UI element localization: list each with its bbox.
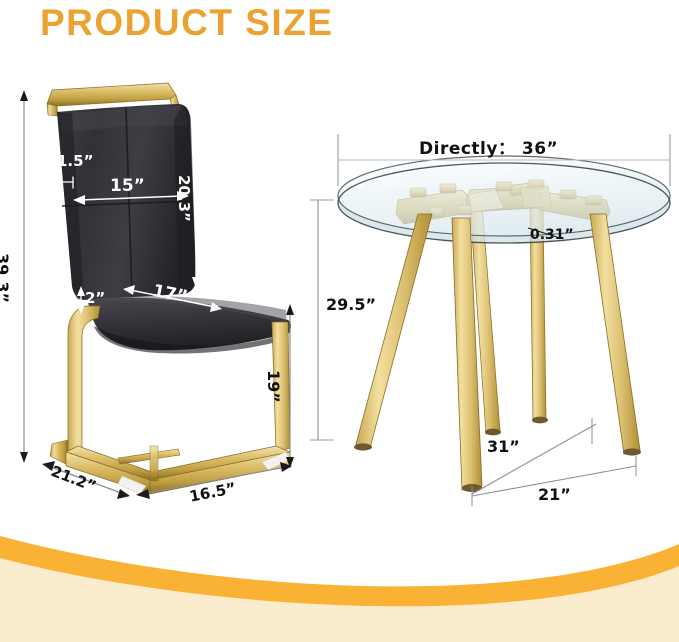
bottom-decor-band xyxy=(0,536,679,642)
dim-label-table-height: 29.5” xyxy=(326,295,376,314)
dimline-table-height xyxy=(310,200,334,440)
dimline-chair-overall-height xyxy=(20,90,28,463)
table-glass-top xyxy=(338,156,670,243)
dim-label-leg-span-width: 21” xyxy=(538,485,571,504)
infographic-canvas xyxy=(0,0,679,642)
dim-label-chair-seat-thickness: 2” xyxy=(85,289,105,307)
dim-label-glass-thickness: 0.31” xyxy=(530,227,574,243)
dim-label-chair-back-width: 15” xyxy=(110,176,145,196)
dim-label-chair-back-thickness: 1.5” xyxy=(57,152,93,170)
dim-label-table-diameter: Directly： 36” xyxy=(419,134,558,159)
dim-label-chair-seat-height: 19” xyxy=(264,370,283,403)
chair-seat xyxy=(88,296,291,354)
product-size-infographic: PRODUCT SIZE 1.5” 15” 20.3” 17” 2” 39.3”… xyxy=(0,0,679,642)
dim-label-leg-span-diagonal: 31” xyxy=(487,437,520,456)
page-title: PRODUCT SIZE xyxy=(40,2,333,44)
dim-label-chair-overall-height: 39.3” xyxy=(0,253,12,303)
dim-label-chair-back-height: 20.3” xyxy=(175,175,193,222)
